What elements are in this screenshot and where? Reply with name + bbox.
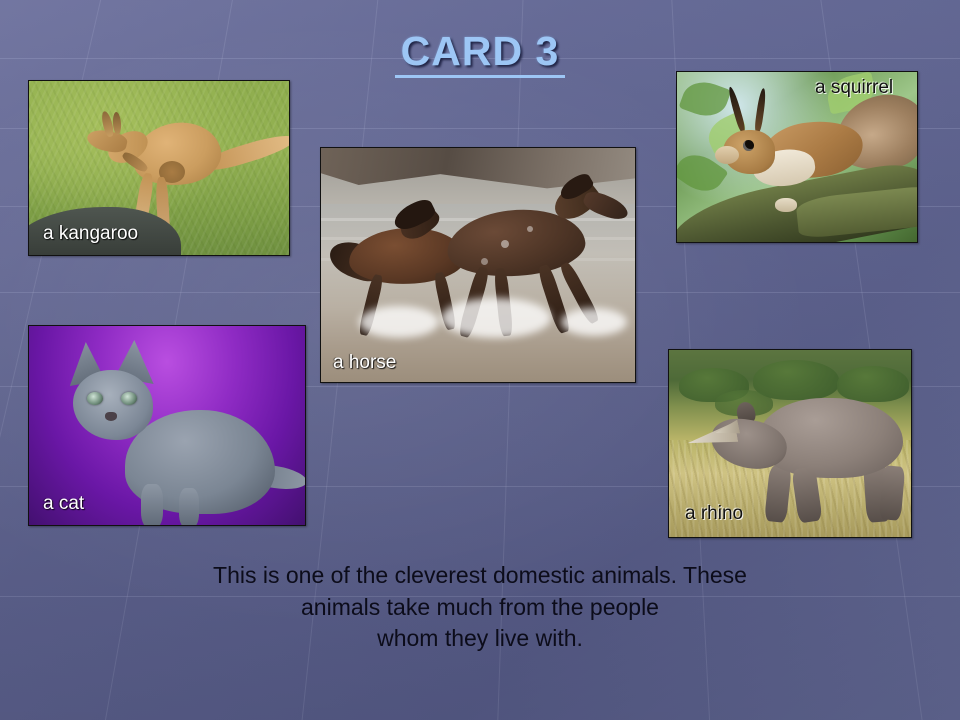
caption-rhino: a rhino bbox=[685, 504, 743, 523]
photo-cat[interactable]: a cat bbox=[28, 325, 306, 526]
photo-squirrel[interactable]: a squirrel bbox=[676, 71, 918, 243]
body-line-1: This is one of the cleverest domestic an… bbox=[60, 560, 900, 592]
slide-body-text: This is one of the cleverest domestic an… bbox=[60, 560, 900, 655]
caption-cat: a cat bbox=[43, 494, 84, 513]
horse-image bbox=[321, 148, 635, 382]
body-line-3: whom they live with. bbox=[60, 623, 900, 655]
page-title: CARD 3 bbox=[395, 30, 566, 78]
photo-horse[interactable]: a horse bbox=[320, 147, 636, 383]
slide-canvas: CARD 3 a kangaroo bbox=[0, 0, 960, 720]
caption-horse: a horse bbox=[333, 353, 396, 372]
photo-rhino[interactable]: a rhino bbox=[668, 349, 912, 538]
caption-kangaroo: a kangaroo bbox=[43, 224, 138, 243]
body-line-2: animals take much from the people bbox=[60, 592, 900, 624]
photo-kangaroo[interactable]: a kangaroo bbox=[28, 80, 290, 256]
caption-squirrel: a squirrel bbox=[815, 78, 893, 97]
